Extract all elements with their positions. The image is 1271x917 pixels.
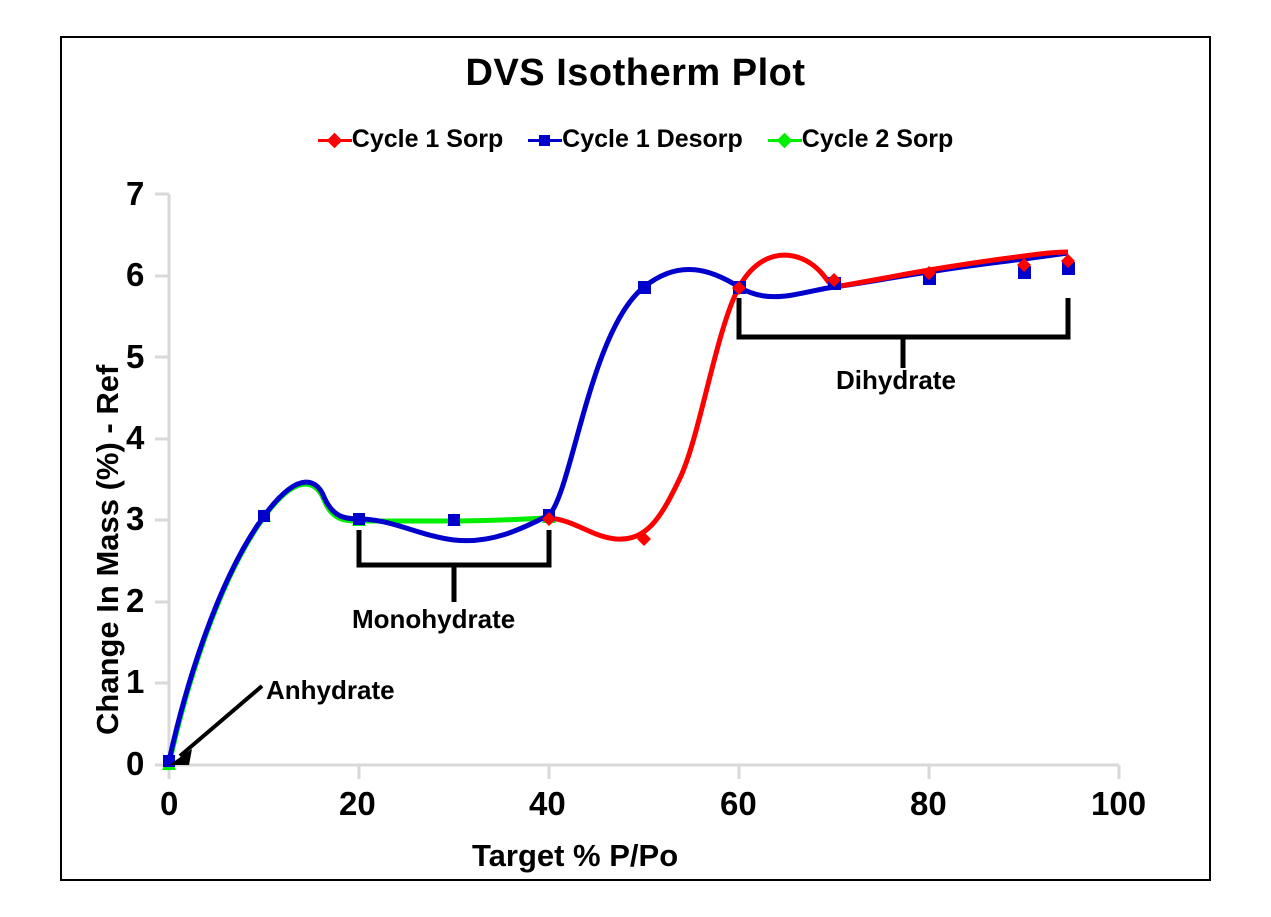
axis-lines [169, 194, 1119, 765]
series-cycle-1-sorp-line [549, 252, 1068, 539]
annotation-dihydrate-bracket [739, 298, 1068, 368]
series-cycle-1-sorp-markers [542, 254, 1075, 546]
series-cycle-1-desorp-line [169, 253, 1068, 761]
x-axis-ticks [169, 765, 1119, 779]
y-axis-ticks [155, 194, 169, 765]
dvs-isotherm-chart: DVS Isotherm Plot Cycle 1 Sorp Cycle 1 D… [0, 0, 1271, 917]
plot-svg [0, 0, 1271, 917]
series-cycle-2-sorp-line [169, 484, 549, 765]
